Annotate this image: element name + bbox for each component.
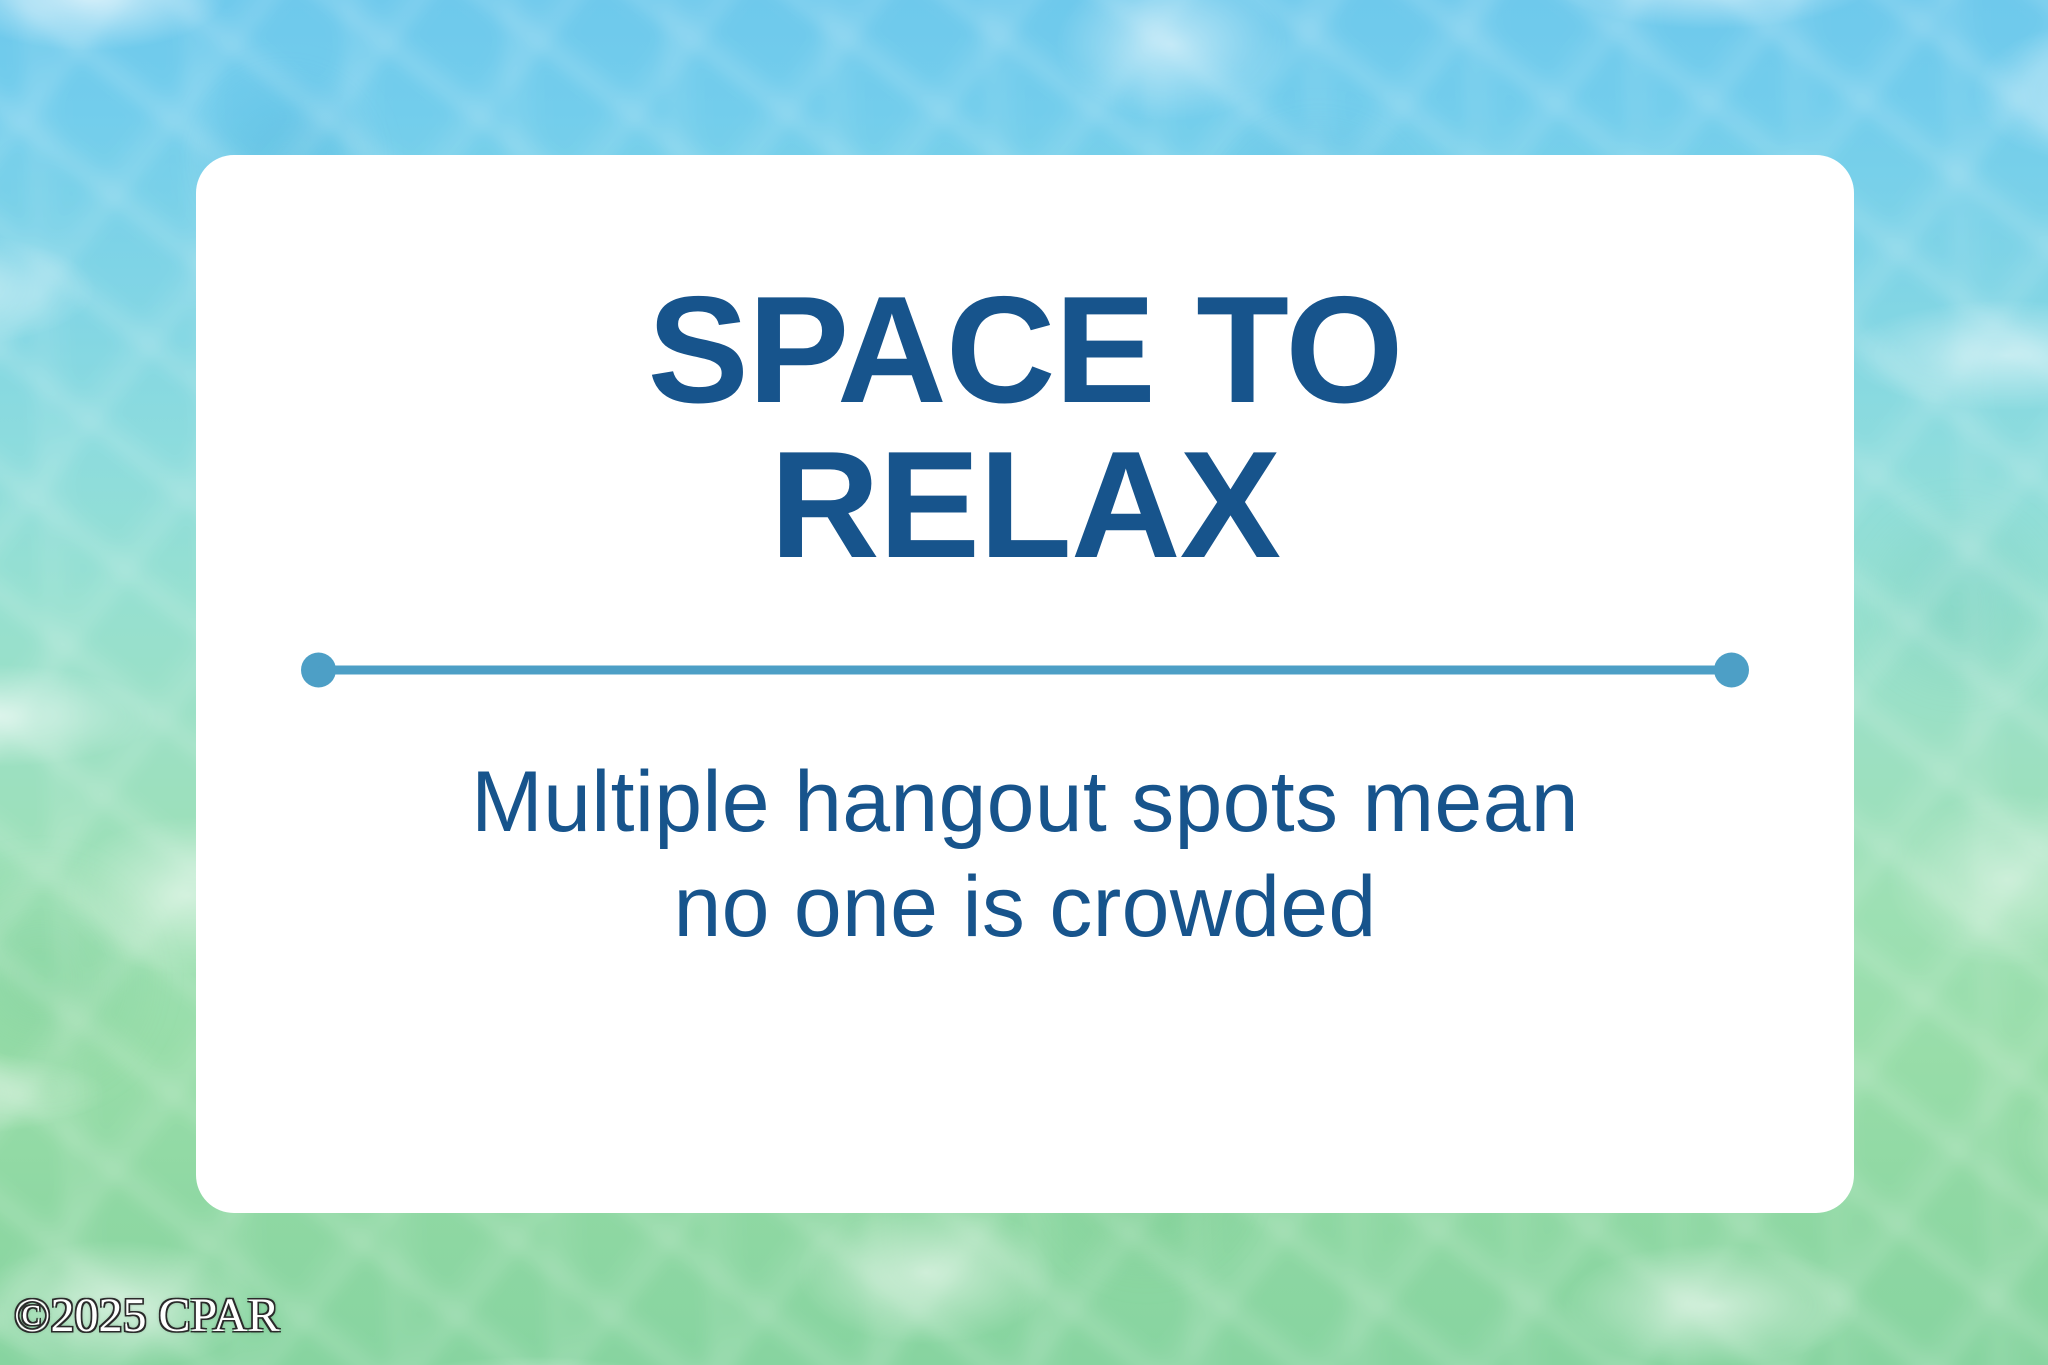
content-card-inner: SPACE TO RELAX Multiple hangout spots me…: [196, 155, 1854, 1213]
body-copy: Multiple hangout spots mean no one is cr…: [306, 750, 1744, 960]
headline: SPACE TO RELAX: [196, 273, 1854, 583]
body-copy-line-2: no one is crowded: [306, 855, 1744, 960]
slide-canvas: SPACE TO RELAX Multiple hangout spots me…: [0, 0, 2048, 1365]
headline-line-2: RELAX: [196, 428, 1854, 583]
bullet-dot-icon-right: [1714, 653, 1749, 688]
headline-line-1: SPACE TO: [196, 273, 1854, 428]
copyright-watermark: ©2025 CPAR: [14, 1288, 279, 1343]
divider-line: [318, 666, 1732, 675]
body-copy-line-1: Multiple hangout spots mean: [306, 750, 1744, 855]
content-card: SPACE TO RELAX Multiple hangout spots me…: [196, 155, 1854, 1213]
divider: [301, 652, 1749, 688]
